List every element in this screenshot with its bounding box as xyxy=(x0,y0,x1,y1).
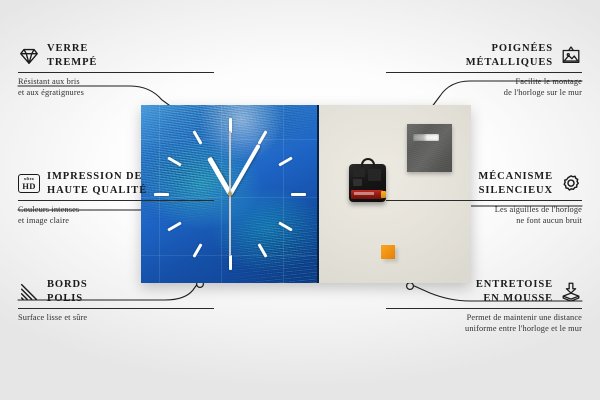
feature-divider xyxy=(386,200,582,201)
feature-title-line1: BORDS xyxy=(47,278,88,292)
feature-title-line1: VERRE xyxy=(47,42,97,56)
feature-title-line2: SILENCIEUX xyxy=(478,184,553,198)
feature-title-line1: POIGNÉES xyxy=(466,42,553,56)
feature-title-line2: HAUTE QUALITÉ xyxy=(47,184,147,198)
feature-title-line1: ENTRETOISE xyxy=(476,278,553,292)
feature-divider xyxy=(18,200,214,201)
feature-title-line2: TREMPÉ xyxy=(47,56,97,70)
feature-verre-trempe: VERRE TREMPÉ Résistant aux bris et aux é… xyxy=(18,42,214,98)
foam-spacer-icon xyxy=(560,281,582,303)
feature-title-line1: IMPRESSION DE xyxy=(47,170,147,184)
feature-sub-line2: et aux égratignures xyxy=(18,87,214,98)
feature-header: ENTRETOISE EN MOUSSE xyxy=(386,278,582,305)
polished-edge-icon xyxy=(18,281,40,303)
clock-tick-3 xyxy=(291,193,306,196)
feature-divider xyxy=(386,72,582,73)
mechanism-hanging-loop xyxy=(361,158,375,167)
feature-impression-haute-qualite: ultra HD IMPRESSION DE HAUTE QUALITÉ Cou… xyxy=(18,170,214,226)
foam-spacer-pad xyxy=(381,245,395,259)
ultra-hd-icon: ultra HD xyxy=(18,174,40,193)
picture-frame-icon xyxy=(560,45,582,67)
feature-sub-line2: et image claire xyxy=(18,215,214,226)
feature-sub-line1: Facilite le montage xyxy=(386,76,582,87)
mechanism-detail-a xyxy=(353,169,365,177)
mechanism-detail-c xyxy=(353,179,362,186)
clock-tick-10 xyxy=(167,156,181,166)
feature-title-line2: EN MOUSSE xyxy=(476,292,553,306)
feature-sub-line1: Résistant aux bris xyxy=(18,76,214,87)
feature-divider xyxy=(18,308,214,309)
clock-tick-6 xyxy=(229,255,232,270)
infographic-stage: VERRE TREMPÉ Résistant aux bris et aux é… xyxy=(0,0,600,400)
feature-sub-line1: Surface lisse et sûre xyxy=(18,312,214,323)
feature-header: VERRE TREMPÉ xyxy=(18,42,214,69)
feature-sub-line1: Les aiguilles de l'horloge xyxy=(386,204,582,215)
feature-sub-line2: ne font aucun bruit xyxy=(386,215,582,226)
feature-header: ultra HD IMPRESSION DE HAUTE QUALITÉ xyxy=(18,170,214,197)
feature-sub-line2: de l'horloge sur le mur xyxy=(386,87,582,98)
feature-divider xyxy=(18,72,214,73)
feature-poignees-metalliques: POIGNÉES MÉTALLIQUES Facilite le montage… xyxy=(386,42,582,98)
feature-header: POIGNÉES MÉTALLIQUES xyxy=(386,42,582,69)
feature-title-line1: MÉCANISME xyxy=(478,170,553,184)
feature-sub-line1: Couleurs intenses xyxy=(18,204,214,215)
feature-mecanisme-silencieux: MÉCANISME SILENCIEUX Les aiguilles de l'… xyxy=(386,170,582,226)
clock-tick-7 xyxy=(192,243,202,257)
gear-icon xyxy=(560,173,582,195)
ultra-hd-icon-hd-text: HD xyxy=(22,182,36,191)
mechanism-detail-b xyxy=(368,169,381,181)
clock-tick-11 xyxy=(192,130,202,144)
feature-divider xyxy=(386,308,582,309)
feature-sub-line2: uniforme entre l'horloge et le mur xyxy=(386,323,582,334)
mechanism-battery xyxy=(351,190,383,199)
feature-title-line2: MÉTALLIQUES xyxy=(466,56,553,70)
clock-tick-5 xyxy=(257,243,267,257)
feature-title-line2: POLIS xyxy=(47,292,88,306)
feature-header: BORDS POLIS xyxy=(18,278,214,305)
clock-tick-4 xyxy=(278,221,292,231)
clock-hand-second xyxy=(229,131,230,194)
clock-center-cap xyxy=(228,192,232,196)
quartz-mechanism-box xyxy=(349,164,386,202)
clock-hand-second-tail xyxy=(229,194,230,256)
diamond-icon xyxy=(18,45,40,67)
feature-header: MÉCANISME SILENCIEUX xyxy=(386,170,582,197)
clock-tick-2 xyxy=(278,156,292,166)
feature-entretoise-en-mousse: ENTRETOISE EN MOUSSE Permet de maintenir… xyxy=(386,278,582,334)
metal-hanger-plate xyxy=(407,124,452,172)
clock-tick-1 xyxy=(257,130,267,144)
feature-sub-line1: Permet de maintenir une distance xyxy=(386,312,582,323)
feature-bords-polis: BORDS POLIS Surface lisse et sûre xyxy=(18,278,214,323)
battery-label xyxy=(354,192,374,195)
clock-hand-minute xyxy=(228,143,260,195)
